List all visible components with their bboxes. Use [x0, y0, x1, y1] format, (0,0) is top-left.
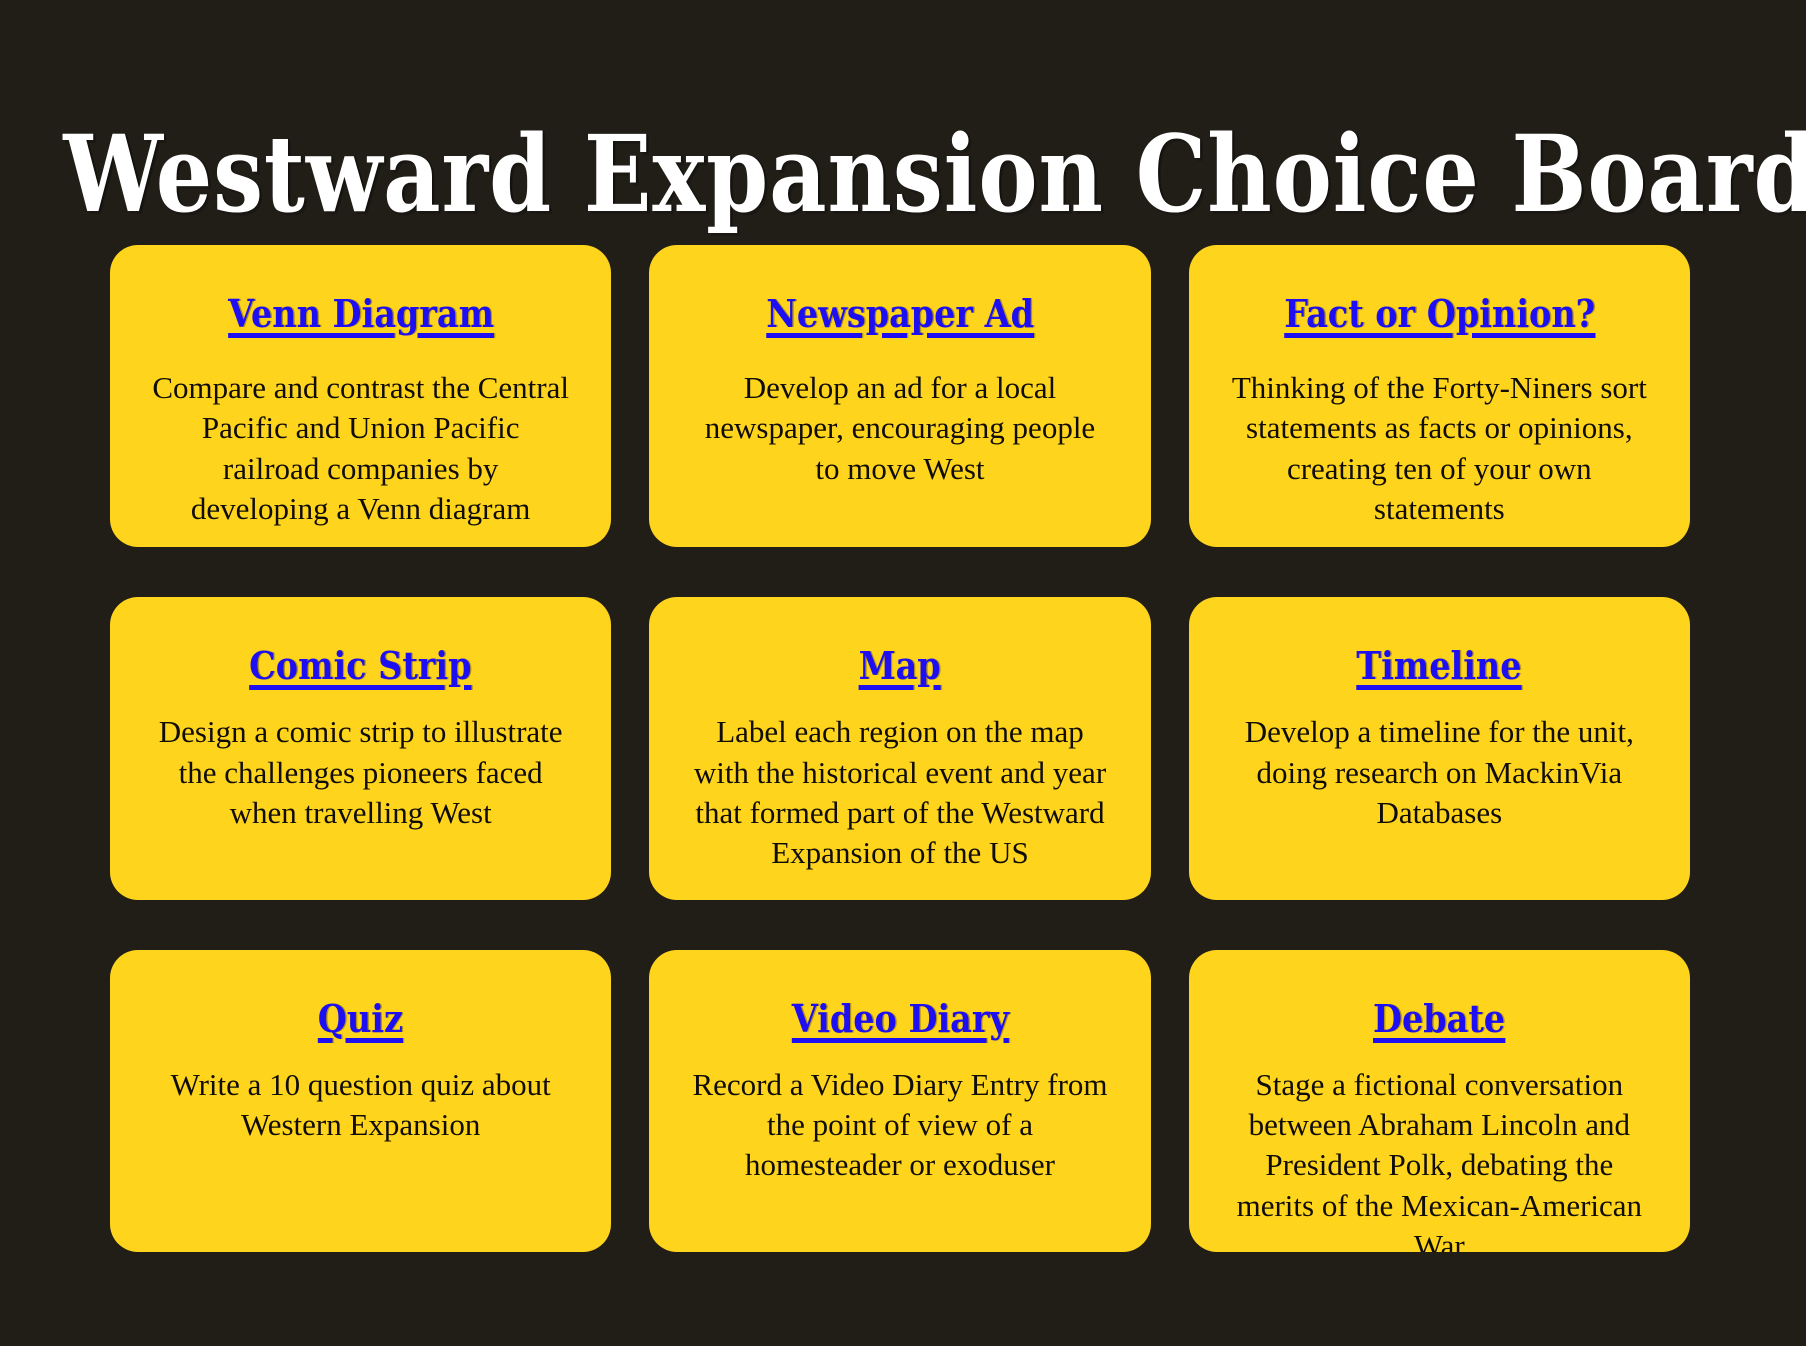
- choice-card-body: Record a Video Diary Entry from the poin…: [684, 1065, 1116, 1186]
- choice-card-body: Design a comic strip to illustrate the c…: [145, 712, 577, 833]
- choice-card-title[interactable]: Comic Strip: [250, 645, 472, 686]
- choice-card-body: Write a 10 question quiz about Western E…: [145, 1065, 577, 1146]
- choice-card-title[interactable]: Quiz: [318, 998, 403, 1039]
- choice-card-timeline[interactable]: Timeline Develop a timeline for the unit…: [1189, 597, 1690, 899]
- choice-card-title[interactable]: Video Diary: [791, 998, 1008, 1039]
- choice-card-debate[interactable]: Debate Stage a fictional conversation be…: [1189, 950, 1690, 1252]
- choice-card-body: Thinking of the Forty-Niners sort statem…: [1223, 368, 1655, 529]
- choice-board-grid: Venn Diagram Compare and contrast the Ce…: [110, 245, 1690, 1252]
- choice-card-fact-or-opinion[interactable]: Fact or Opinion? Thinking of the Forty-N…: [1189, 245, 1690, 547]
- choice-card-title[interactable]: Fact or Opinion?: [1284, 293, 1595, 334]
- choice-card-quiz[interactable]: Quiz Write a 10 question quiz about West…: [110, 950, 611, 1252]
- choice-card-body: Develop a timeline for the unit, doing r…: [1223, 712, 1655, 833]
- choice-card-title[interactable]: Newspaper Ad: [766, 293, 1034, 334]
- choice-card-newspaper-ad[interactable]: Newspaper Ad Develop an ad for a local n…: [649, 245, 1150, 547]
- choice-card-body: Stage a fictional conversation between A…: [1223, 1065, 1655, 1252]
- choice-board-slide: Westward Expansion Choice Board Venn Dia…: [0, 0, 1806, 1346]
- choice-card-body: Compare and contrast the Central Pacific…: [145, 368, 577, 529]
- page-title: Westward Expansion Choice Board: [63, 115, 1743, 234]
- choice-card-title[interactable]: Timeline: [1357, 645, 1522, 686]
- choice-card-title[interactable]: Map: [859, 645, 941, 686]
- choice-card-video-diary[interactable]: Video Diary Record a Video Diary Entry f…: [649, 950, 1150, 1252]
- choice-card-comic-strip[interactable]: Comic Strip Design a comic strip to illu…: [110, 597, 611, 899]
- choice-card-body: Label each region on the map with the hi…: [684, 712, 1116, 873]
- choice-card-map[interactable]: Map Label each region on the map with th…: [649, 597, 1150, 899]
- choice-card-title[interactable]: Venn Diagram: [228, 293, 494, 334]
- choice-card-venn-diagram[interactable]: Venn Diagram Compare and contrast the Ce…: [110, 245, 611, 547]
- choice-card-body: Develop an ad for a local newspaper, enc…: [684, 368, 1116, 489]
- choice-card-title[interactable]: Debate: [1373, 998, 1505, 1039]
